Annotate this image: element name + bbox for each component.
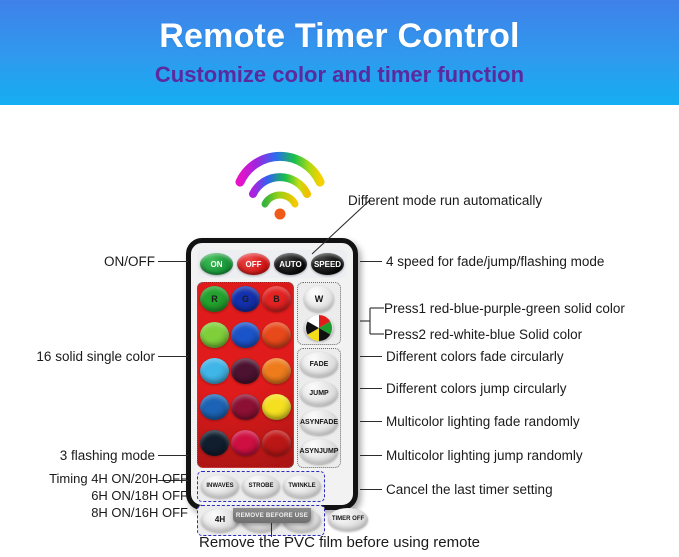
callout-onoff: ON/OFF xyxy=(0,253,155,271)
asyn-fade-line1: ASYN xyxy=(300,419,319,426)
callout-fade: Different colors fade circularly xyxy=(386,348,564,366)
mode-button-group: FADE JUMP ASYN FADE ASYN JUMP xyxy=(297,348,341,468)
flash-mode-group: IN WAVES STROBE TWINKLE xyxy=(197,471,325,502)
multicolor-pie-icon[interactable] xyxy=(304,315,334,341)
color-button-g[interactable]: G xyxy=(231,286,260,312)
function-column: W xyxy=(297,282,341,468)
color-button-r[interactable]: R xyxy=(200,286,229,312)
leader-flashing xyxy=(158,455,188,456)
callout-timing: Timing 4H ON/20H OFF 6H ON/18H OFF 8H ON… xyxy=(16,470,188,521)
color-button-grid: R G B xyxy=(197,282,294,468)
auto-button[interactable]: AUTO xyxy=(274,253,307,275)
timing-line-1: Timing 4H ON/20H OFF xyxy=(16,470,188,487)
jump-button[interactable]: JUMP xyxy=(300,381,338,406)
timing-line-3: 8H ON/16H OFF xyxy=(16,504,188,521)
infographic-page: Remote Timer Control Customize color and… xyxy=(0,0,679,557)
off-button[interactable]: OFF xyxy=(237,253,270,275)
on-button[interactable]: ON xyxy=(200,253,233,275)
in-waves-line2: WAVES xyxy=(212,483,233,489)
asyn-jump-button[interactable]: ASYN JUMP xyxy=(300,439,338,464)
flash-mode-row: IN WAVES STROBE TWINKLE x xyxy=(197,471,347,502)
color-button-b4[interactable] xyxy=(262,394,291,420)
leader-fade xyxy=(360,356,382,357)
callout-flashing: 3 flashing mode xyxy=(0,447,155,465)
callout-solid-colors: 16 solid single color xyxy=(0,348,155,366)
page-title: Remote Timer Control xyxy=(159,18,519,55)
fade-button[interactable]: FADE xyxy=(300,352,338,377)
color-button-b[interactable]: B xyxy=(262,286,291,312)
timer-off-button[interactable]: TIMER OFF xyxy=(328,508,368,531)
color-button-r2[interactable] xyxy=(200,322,229,348)
asyn-fade-line2: FADE xyxy=(319,419,338,426)
speed-button[interactable]: SPEED xyxy=(311,253,344,275)
color-button-b3[interactable] xyxy=(262,358,291,384)
color-button-g3[interactable] xyxy=(231,358,260,384)
callout-timer-off: Cancel the last timer setting xyxy=(386,481,553,499)
color-button-g2[interactable] xyxy=(231,322,260,348)
leader-solid xyxy=(158,356,188,357)
leader-asyn-fade xyxy=(360,421,382,422)
button-area: R G B W xyxy=(197,282,347,468)
color-button-b5[interactable] xyxy=(262,430,291,456)
header-banner: Remote Timer Control Customize color and… xyxy=(0,0,679,105)
callout-speed: 4 speed for fade/jump/flashing mode xyxy=(386,253,604,271)
leader-asyn-jump xyxy=(360,455,382,456)
callout-auto: Different mode run automatically xyxy=(348,192,542,210)
leader-speed xyxy=(360,261,382,262)
color-button-r5[interactable] xyxy=(200,430,229,456)
strobe-button[interactable]: STROBE xyxy=(242,475,280,498)
callout-press1: Press1 red-blue-purple-green solid color xyxy=(384,300,625,318)
white-button[interactable]: W xyxy=(304,286,334,312)
leader-timer-off xyxy=(360,489,382,490)
callout-asyn-fade: Multicolor lighting fade randomly xyxy=(386,413,580,431)
asyn-jump-spacer: x xyxy=(328,471,366,499)
callout-asyn-jump: Multicolor lighting jump randomly xyxy=(386,447,583,465)
in-waves-button[interactable]: IN WAVES xyxy=(201,475,239,498)
remote-control: ON OFF AUTO SPEED R G B xyxy=(186,238,358,510)
pvc-film-tab[interactable]: REMOVE BEFORE USE xyxy=(233,508,311,523)
color-button-g4[interactable] xyxy=(231,394,260,420)
color-button-g5[interactable] xyxy=(231,430,260,456)
asyn-fade-button[interactable]: ASYN FADE xyxy=(300,410,338,435)
leader-jump xyxy=(360,388,382,389)
asyn-jump-line2: JUMP xyxy=(319,448,338,455)
callout-press2: Press2 red-white-blue Solid color xyxy=(384,326,582,344)
timing-line-2: 6H ON/18H OFF xyxy=(16,487,188,504)
color-button-b2[interactable] xyxy=(262,322,291,348)
twinkle-button[interactable]: TWINKLE xyxy=(283,475,321,498)
callout-pvc-note: Remove the PVC film before using remote xyxy=(0,534,679,551)
color-button-r4[interactable] xyxy=(200,394,229,420)
leader-onoff xyxy=(158,261,188,262)
page-subtitle: Customize color and timer function xyxy=(155,63,524,87)
white-and-pie-group: W xyxy=(297,282,341,345)
callout-jump: Different colors jump circularly xyxy=(386,380,567,398)
color-button-r3[interactable] xyxy=(200,358,229,384)
asyn-jump-line1: ASYN xyxy=(300,448,319,455)
timer-off-wrap: TIMER OFF xyxy=(328,505,368,531)
